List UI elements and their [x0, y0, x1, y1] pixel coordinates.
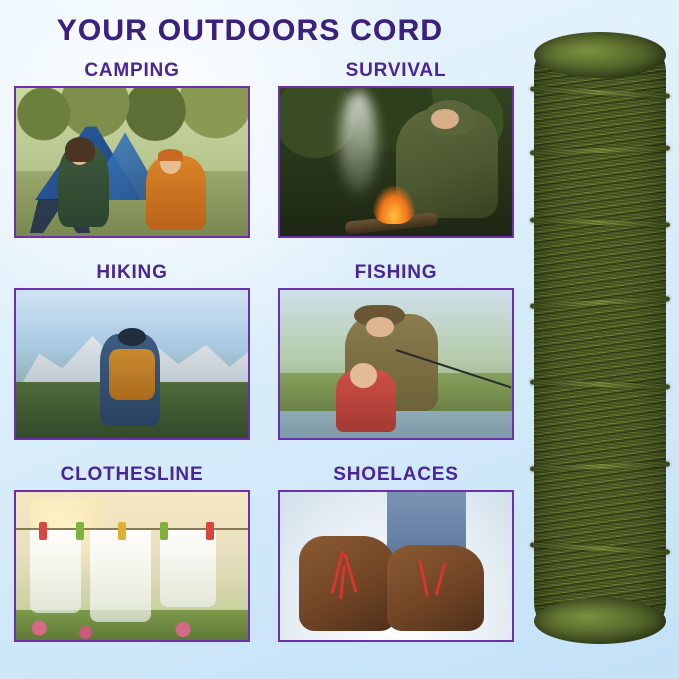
- campfire-smoke: [340, 91, 377, 195]
- cord-strand: [530, 296, 670, 308]
- use-case-photo-clothesline: [14, 490, 250, 642]
- cord-strand: [530, 146, 670, 156]
- hanging-laundry: [160, 530, 216, 607]
- hanging-laundry: [30, 530, 81, 613]
- use-case-cell-fishing: FISHING: [278, 262, 514, 444]
- use-case-photo-shoelaces: [278, 490, 514, 642]
- use-case-grid-panel: YOUR OUTDOORS CORD CAMPING SURVIVAL: [0, 0, 528, 679]
- use-case-label-fishing: FISHING: [278, 262, 514, 284]
- use-case-label-camping: CAMPING: [14, 60, 250, 82]
- use-case-cell-camping: CAMPING: [14, 60, 250, 242]
- person-face: [431, 109, 459, 130]
- red-shoelace: [435, 563, 447, 597]
- use-case-photo-survival: [278, 86, 514, 238]
- cord-strand: [530, 542, 670, 554]
- person-boy-head: [350, 363, 378, 388]
- backpack: [109, 349, 155, 399]
- use-case-label-clothesline: CLOTHESLINE: [14, 464, 250, 486]
- angler-face: [366, 317, 394, 338]
- use-case-photo-hiking: [14, 288, 250, 440]
- use-case-cell-hiking: HIKING: [14, 262, 250, 444]
- paracord-bundle-bottom: [534, 598, 666, 644]
- page-title: YOUR OUTDOORS CORD: [0, 14, 500, 48]
- red-shoelace: [340, 565, 347, 599]
- campfire-flame: [373, 186, 415, 224]
- use-case-label-shoelaces: SHOELACES: [278, 464, 514, 486]
- product-photo-panel: [528, 0, 679, 679]
- use-case-cell-clothesline: CLOTHESLINE: [14, 464, 250, 646]
- hanging-laundry: [90, 530, 150, 622]
- cord-strand: [530, 218, 670, 228]
- use-case-photo-fishing: [278, 288, 514, 440]
- person-woman-hair: [65, 137, 95, 162]
- paracord-bundle: [534, 52, 666, 622]
- use-case-label-survival: SURVIVAL: [278, 60, 514, 82]
- paracord-bundle-top: [534, 32, 666, 78]
- use-case-cell-shoelaces: SHOELACES: [278, 464, 514, 646]
- use-case-photo-camping: [14, 86, 250, 238]
- use-case-cell-survival: SURVIVAL: [278, 60, 514, 242]
- clothespin: [206, 522, 214, 540]
- red-shoelace: [344, 554, 358, 593]
- clothespin: [39, 522, 47, 540]
- red-shoelace: [418, 559, 429, 597]
- clothespin: [160, 522, 168, 540]
- use-case-label-hiking: HIKING: [14, 262, 250, 284]
- clothespin: [118, 522, 126, 540]
- clothespin: [76, 522, 84, 540]
- cord-strand: [530, 462, 670, 472]
- hiking-boot: [299, 536, 396, 631]
- hiking-boot: [387, 545, 484, 631]
- cord-strand: [530, 86, 670, 98]
- person-man-cap: [158, 149, 184, 161]
- product-infographic: YOUR OUTDOORS CORD CAMPING SURVIVAL: [0, 0, 679, 679]
- cord-strand: [530, 380, 670, 390]
